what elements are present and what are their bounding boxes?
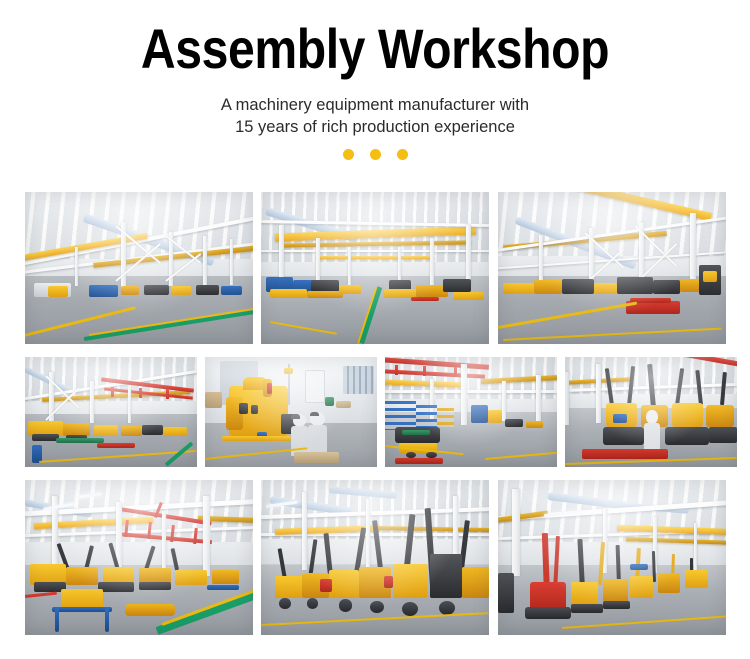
gallery-photo-2-4[interactable] [565, 357, 737, 467]
photo-gallery [25, 192, 725, 635]
dot-3-icon [397, 149, 408, 160]
gallery-photo-1-2[interactable] [261, 192, 489, 344]
factory-scene [261, 480, 489, 635]
page-header: Assembly Workshop A machinery equipment … [0, 0, 750, 186]
gallery-photo-2-3[interactable] [385, 357, 557, 467]
factory-scene [498, 192, 726, 344]
factory-scene [385, 357, 557, 467]
dot-2-icon [370, 149, 381, 160]
factory-scene [261, 192, 489, 344]
assembly-workshop-page: Assembly Workshop A machinery equipment … [0, 0, 750, 659]
gallery-photo-3-3[interactable] [498, 480, 726, 635]
subtitle-line-1: A machinery equipment manufacturer with [0, 94, 750, 116]
gallery-row-2 [25, 357, 725, 467]
factory-scene [565, 357, 737, 467]
gallery-photo-3-1[interactable] [25, 480, 253, 635]
subtitle-line-2: 15 years of rich production experience [0, 116, 750, 138]
factory-scene [25, 192, 253, 344]
gallery-row-3 [25, 480, 725, 635]
gallery-photo-2-1[interactable] [25, 357, 197, 467]
page-subtitle: A machinery equipment manufacturer with … [0, 94, 750, 138]
factory-scene [25, 357, 197, 467]
gallery-photo-1-3[interactable] [498, 192, 726, 344]
page-title: Assembly Workshop [53, 19, 698, 79]
gallery-photo-3-2[interactable] [261, 480, 489, 635]
factory-scene [25, 480, 253, 635]
dot-1-icon [343, 149, 354, 160]
engine-assembly-scene [205, 357, 377, 467]
gallery-row-1 [25, 192, 725, 344]
gallery-photo-2-2[interactable] [205, 357, 377, 467]
gallery-photo-1-1[interactable] [25, 192, 253, 344]
decorative-dots [0, 149, 750, 160]
factory-scene [498, 480, 726, 635]
